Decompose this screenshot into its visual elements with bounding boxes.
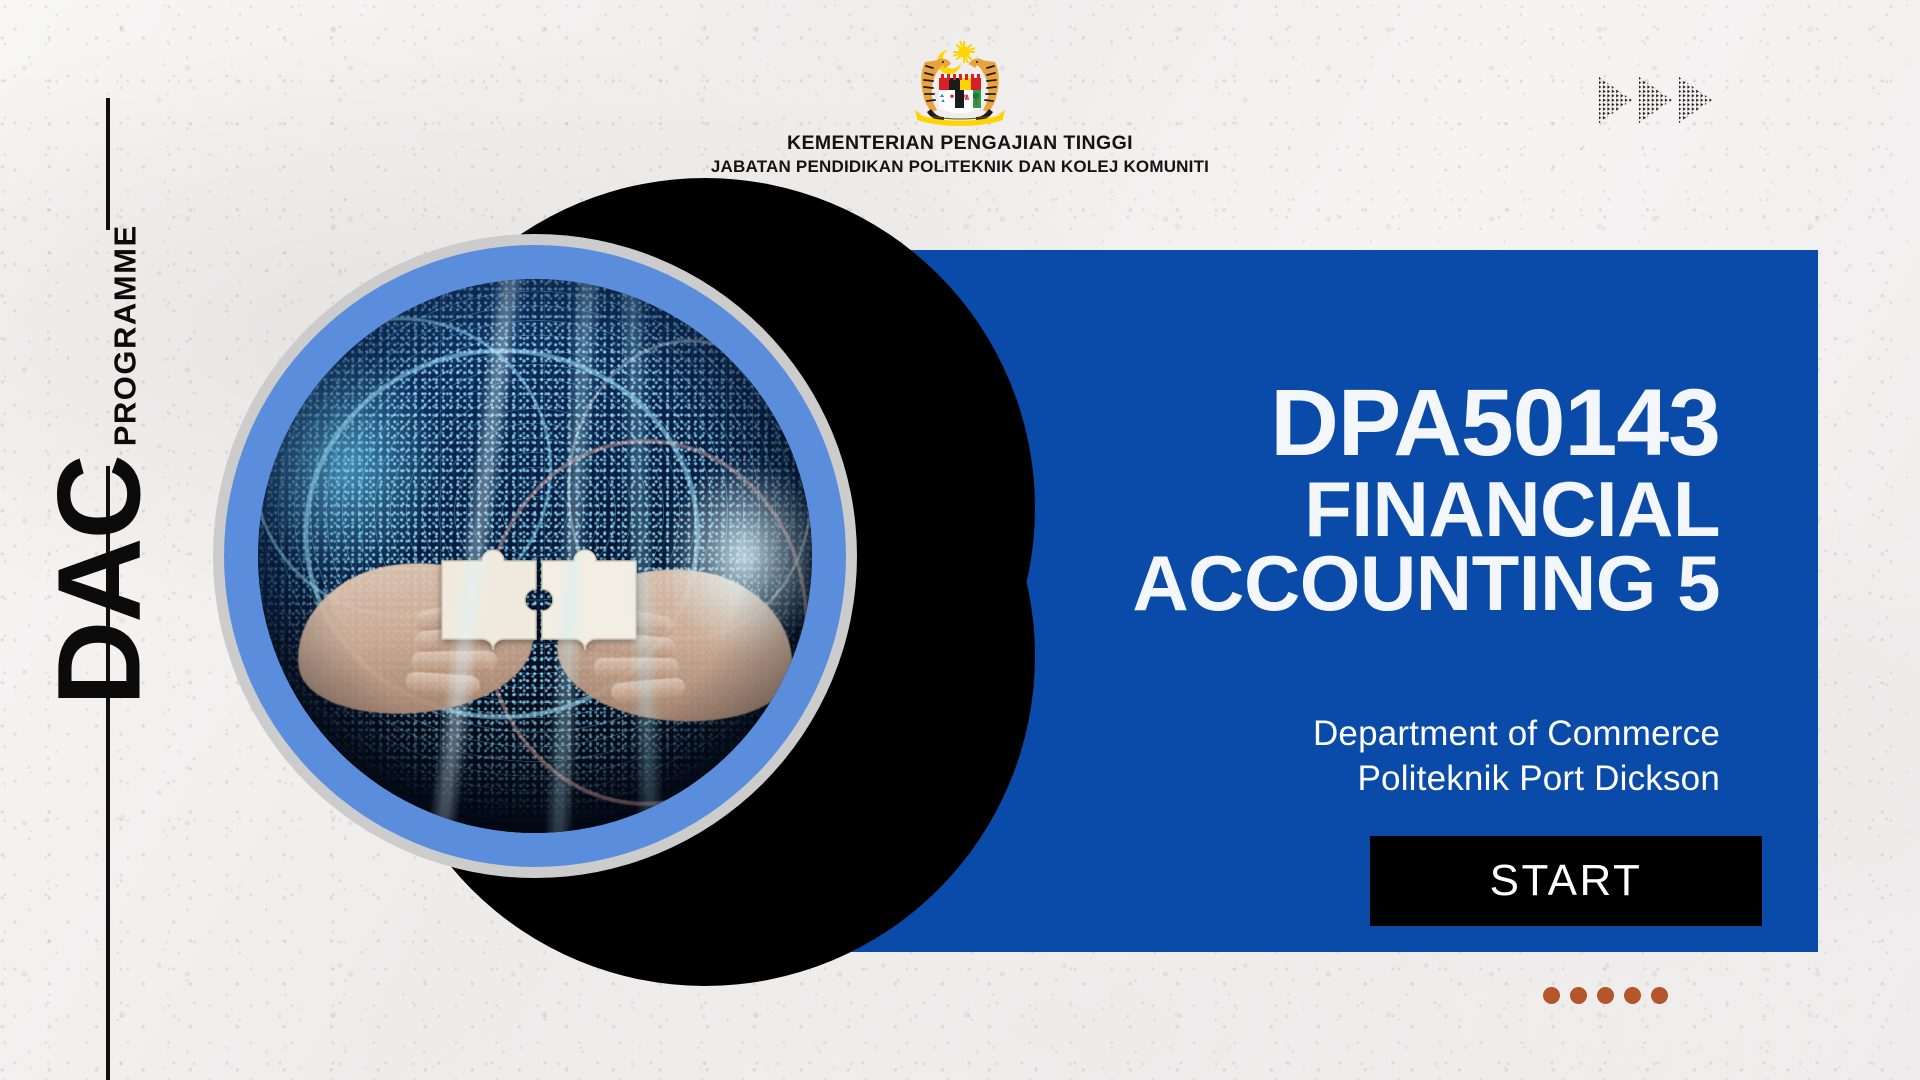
department-label: Department of Commerce [900, 712, 1720, 757]
slide-canvas: DAC PROGRAMME [0, 0, 1920, 1080]
course-name-line-1: FINANCIAL [900, 473, 1720, 546]
course-name-line-2: ACCOUNTING 5 [900, 547, 1720, 620]
ministry-name: KEMENTERIAN PENGAJIAN TINGGI [787, 132, 1133, 155]
accent-dots [1543, 987, 1668, 1004]
institution-block: Department of Commerce Politeknik Port D… [900, 712, 1720, 802]
hero-image [258, 279, 812, 833]
triangle-icon-1 [1598, 76, 1634, 124]
triangle-icon-3 [1678, 76, 1714, 124]
course-code: DPA50143 [900, 378, 1720, 469]
accent-dot [1624, 987, 1641, 1004]
accent-dot [1543, 987, 1560, 1004]
triple-play-triangles-icon [1598, 76, 1716, 126]
hero-medallion [213, 178, 893, 998]
institution-label: Politeknik Port Dickson [900, 757, 1720, 802]
course-title-block: DPA50143 FINANCIAL ACCOUNTING 5 [900, 378, 1720, 620]
malaysia-coat-of-arms-icon [901, 30, 1019, 128]
programme-abbreviation: DAC [50, 456, 150, 706]
programme-word: PROGRAMME [108, 224, 144, 446]
programme-vertical-label: DAC PROGRAMME [0, 300, 200, 630]
accent-dot [1570, 987, 1587, 1004]
triangle-icon-2 [1638, 76, 1674, 124]
accent-dot [1651, 987, 1668, 1004]
start-button[interactable]: START [1370, 836, 1762, 926]
accent-dot [1597, 987, 1614, 1004]
department-name: JABATAN PENDIDIKAN POLITEKNIK DAN KOLEJ … [711, 157, 1209, 177]
